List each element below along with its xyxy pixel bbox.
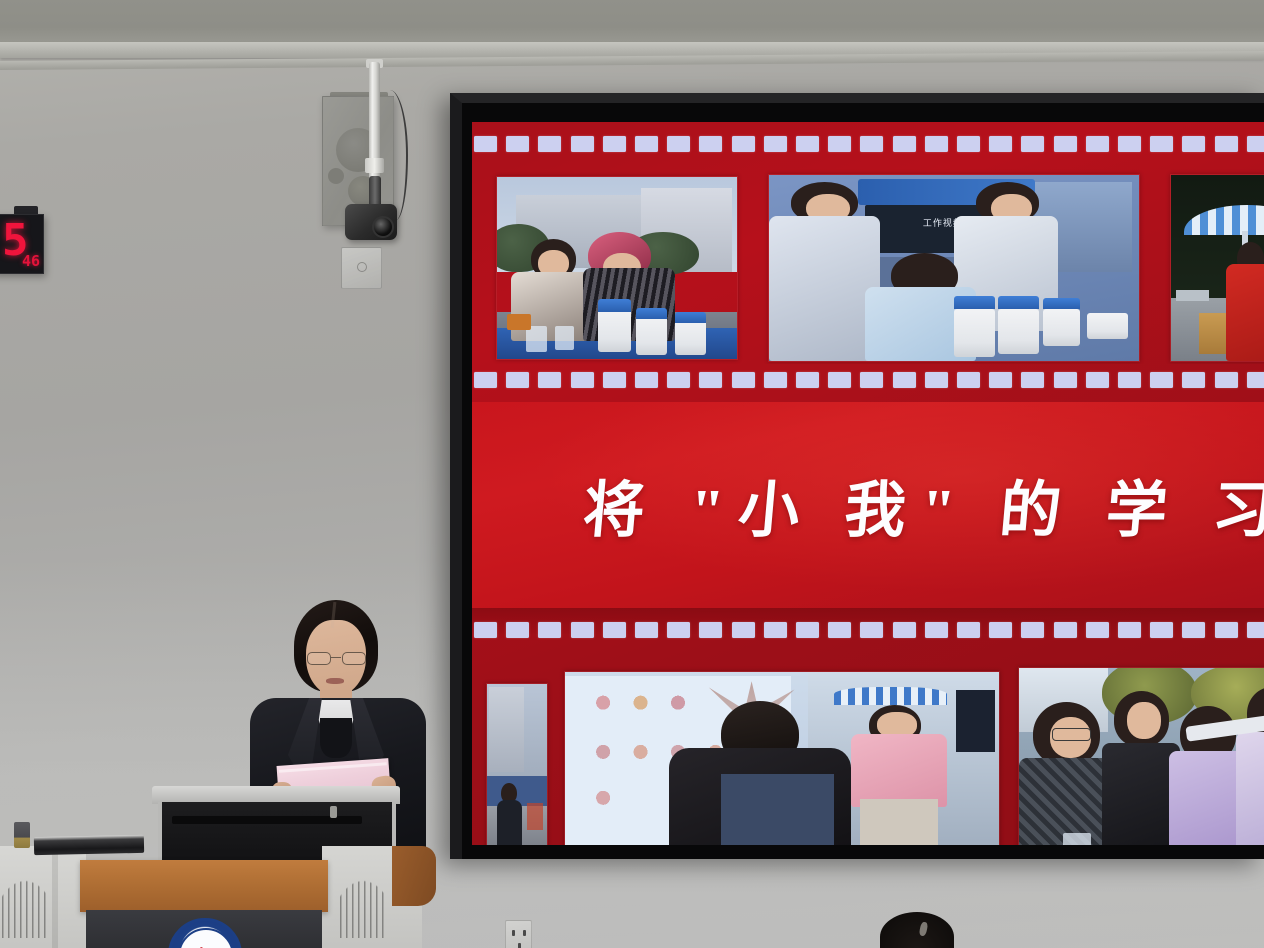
film-sprocket-hole <box>474 372 497 388</box>
film-sprocket-hole <box>732 372 755 388</box>
film-sprocket-hole <box>893 622 916 638</box>
film-sprocket-row-top <box>472 136 1264 156</box>
film-sprocket-hole <box>667 622 690 638</box>
film-sprocket-hole <box>1118 622 1141 638</box>
film-sprocket-hole <box>571 372 594 388</box>
film-sprocket-hole <box>957 622 980 638</box>
film-sprocket-hole <box>571 622 594 638</box>
film-sprocket-hole <box>732 136 755 152</box>
film-sprocket-hole <box>732 622 755 638</box>
film-sprocket-hole <box>860 622 883 638</box>
film-sprocket-hole <box>925 372 948 388</box>
film-sprocket-hole <box>603 136 626 152</box>
film-sprocket-hole <box>796 372 819 388</box>
film-sprocket-hole <box>1086 136 1109 152</box>
film-sprocket-hole <box>603 622 626 638</box>
slide-banner-text: 将 "小 我" 的 学 习 追 <box>580 460 1264 549</box>
camera-plate-hole <box>357 262 367 272</box>
film-sprocket-hole <box>506 622 529 638</box>
film-sprocket-hole <box>764 622 787 638</box>
film-sprocket-hole <box>1150 622 1173 638</box>
film-sprocket-hole <box>925 136 948 152</box>
film-sprocket-hole <box>764 136 787 152</box>
wall-power-outlet <box>505 920 532 948</box>
lecture-podium <box>0 760 460 948</box>
film-sprocket-hole <box>635 136 658 152</box>
film-sprocket-hole <box>1215 136 1238 152</box>
film-sprocket-hole <box>635 372 658 388</box>
film-sprocket-hole <box>538 136 561 152</box>
film-photo-row-bottom <box>472 657 1264 845</box>
clock-small-digits: 46 <box>22 252 40 270</box>
slide-photo-bottom-3 <box>1018 667 1264 845</box>
film-sprocket-hole <box>506 136 529 152</box>
projection-screen: 工作视频 <box>450 93 1264 859</box>
film-sprocket-hole <box>1150 136 1173 152</box>
film-sprocket-hole <box>635 622 658 638</box>
film-sprocket-hole <box>1247 622 1264 638</box>
slide-photo-top-3 <box>1170 174 1264 362</box>
slide-photo-bottom-2 <box>564 671 1000 845</box>
film-sprocket-hole <box>828 372 851 388</box>
film-sprocket-hole <box>989 136 1012 152</box>
film-sprocket-hole <box>1021 622 1044 638</box>
film-sprocket-hole <box>699 372 722 388</box>
film-sprocket-hole <box>989 622 1012 638</box>
slide-photo-top-2: 工作视频 <box>768 174 1140 362</box>
film-sprocket-hole <box>957 136 980 152</box>
speaker-grille-right-icon <box>340 860 386 938</box>
slide-photo-bottom-1 <box>486 683 548 845</box>
film-sprocket-hole <box>1182 622 1205 638</box>
film-sprocket-hole <box>860 372 883 388</box>
laptop-on-desk[interactable] <box>34 835 144 855</box>
film-sprocket-hole <box>796 136 819 152</box>
film-sprocket-hole <box>1118 136 1141 152</box>
film-sprocket-hole <box>667 136 690 152</box>
film-sprocket-hole <box>957 372 980 388</box>
film-sprocket-hole <box>538 372 561 388</box>
film-sprocket-hole <box>571 136 594 152</box>
camera-pole-joint <box>365 158 384 173</box>
film-sprocket-hole <box>989 372 1012 388</box>
camera-lens-icon <box>372 216 394 238</box>
film-sprocket-hole <box>1150 372 1173 388</box>
film-sprocket-hole <box>1118 372 1141 388</box>
film-sprocket-hole <box>1086 372 1109 388</box>
film-sprocket-hole <box>1021 136 1044 152</box>
cabinet-divider <box>52 846 58 948</box>
film-sprocket-hole <box>474 136 497 152</box>
film-sprocket-row-middle <box>472 372 1264 392</box>
ceiling <box>0 0 1264 46</box>
slide-photo-top-1 <box>496 176 738 360</box>
film-sprocket-row-bottom <box>472 622 1264 642</box>
film-sprocket-hole <box>506 372 529 388</box>
speaker-grille-left-icon <box>2 860 48 938</box>
film-sprocket-hole <box>699 622 722 638</box>
film-sprocket-hole <box>1182 372 1205 388</box>
presenter-mouth <box>326 678 344 684</box>
podium-latch-knob[interactable] <box>330 806 337 818</box>
film-sprocket-hole <box>1086 622 1109 638</box>
film-sprocket-hole <box>699 136 722 152</box>
podium-wood-panel <box>80 860 328 912</box>
film-photo-row-top: 工作视频 <box>472 168 1264 364</box>
film-sprocket-hole <box>925 622 948 638</box>
film-sprocket-hole <box>828 136 851 152</box>
film-sprocket-hole <box>667 372 690 388</box>
film-sprocket-hole <box>1247 136 1264 152</box>
film-sprocket-hole <box>1215 622 1238 638</box>
presentation-slide: 工作视频 <box>472 122 1264 845</box>
slide-banner: 将 "小 我" 的 学 习 追 <box>472 402 1264 608</box>
speaker-tweeter-icon <box>328 168 344 184</box>
film-sprocket-hole <box>538 622 561 638</box>
film-sprocket-hole <box>1182 136 1205 152</box>
screenshot-scene: 5 46 <box>0 0 1264 948</box>
film-sprocket-hole <box>1021 372 1044 388</box>
film-sprocket-hole <box>1054 136 1077 152</box>
podium-wood-rail <box>392 846 436 906</box>
desk-mug <box>14 822 30 848</box>
film-sprocket-hole <box>828 622 851 638</box>
screen-display-area: 工作视频 <box>462 103 1264 859</box>
film-sprocket-hole <box>893 372 916 388</box>
film-sprocket-hole <box>764 372 787 388</box>
film-sprocket-hole <box>796 622 819 638</box>
film-sprocket-hole <box>603 372 626 388</box>
film-sprocket-hole <box>1247 372 1264 388</box>
eyeglasses-icon <box>306 652 368 666</box>
film-sprocket-hole <box>860 136 883 152</box>
film-sprocket-hole <box>474 622 497 638</box>
film-sprocket-hole <box>893 136 916 152</box>
film-sprocket-hole <box>1054 622 1077 638</box>
presenter-inner-collar <box>320 718 352 758</box>
film-sprocket-hole <box>1054 372 1077 388</box>
film-sprocket-hole <box>1215 372 1238 388</box>
